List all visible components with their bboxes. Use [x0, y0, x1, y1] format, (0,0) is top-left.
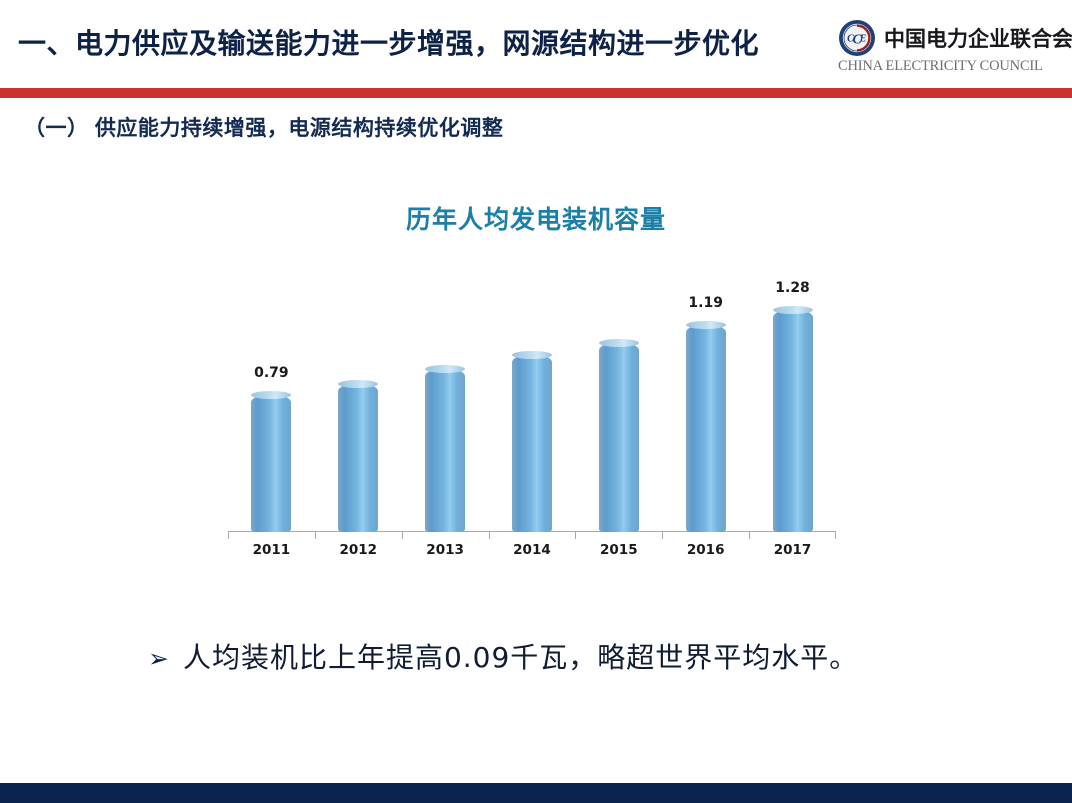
- header-red-rule: [0, 88, 1072, 98]
- bar-top-ellipse: [338, 380, 378, 388]
- slide-header: 一、电力供应及输送能力进一步增强，网源结构进一步优化 C C E 中国电力企业联…: [0, 0, 1072, 88]
- logo-name-cn: 中国电力企业联合会: [884, 23, 1072, 53]
- x-axis-tick: [228, 532, 229, 539]
- bar-2013[interactable]: [425, 369, 465, 532]
- x-axis-tick: [575, 532, 576, 539]
- bar-slot: 1.282017: [749, 280, 836, 532]
- bar-top-ellipse: [773, 306, 813, 314]
- bar-2016[interactable]: [686, 325, 726, 532]
- bar-2014[interactable]: [512, 355, 552, 532]
- bar-top-ellipse: [425, 365, 465, 373]
- bar-top-ellipse: [686, 321, 726, 329]
- cec-circular-seal-icon: C C E: [838, 19, 876, 57]
- chart-plot-area: 0.79201120122013201420151.1920161.282017: [228, 280, 836, 532]
- summary-bullet-text: 人均装机比上年提高0.09千瓦，略超世界平均水平。: [183, 636, 858, 676]
- x-axis-label-2016: 2016: [687, 542, 725, 558]
- bar-slot: 1.192016: [662, 280, 749, 532]
- organization-logo: C C E 中国电力企业联合会 CHINA ELECTRICITY COUNCI…: [838, 16, 1064, 78]
- bar-slot: 2014: [489, 280, 576, 532]
- bar-value-label: 1.19: [688, 295, 723, 311]
- bar-2015[interactable]: [599, 343, 639, 532]
- x-axis-tick: [662, 532, 663, 539]
- x-axis-tick: [749, 532, 750, 539]
- bar-2012[interactable]: [338, 384, 378, 532]
- arrow-bullet-icon: ➢: [148, 646, 169, 671]
- svg-text:C: C: [847, 34, 854, 45]
- section-subheading: （一） 供应能力持续增强，电源结构持续优化调整: [24, 112, 503, 142]
- slide-canvas: 一、电力供应及输送能力进一步增强，网源结构进一步优化 C C E 中国电力企业联…: [0, 0, 1072, 803]
- bar-2011[interactable]: [251, 395, 291, 532]
- summary-bullet: ➢ 人均装机比上年提高0.09千瓦，略超世界平均水平。: [148, 636, 858, 676]
- bar-top-ellipse: [251, 391, 291, 399]
- bar-top-ellipse: [512, 351, 552, 359]
- x-axis-label-2012: 2012: [339, 542, 377, 558]
- x-axis-label-2013: 2013: [426, 542, 464, 558]
- x-axis-label-2017: 2017: [774, 542, 812, 558]
- bar-slot: 2012: [315, 280, 402, 532]
- chart-title: 历年人均发电装机容量: [0, 200, 1072, 236]
- bar-value-label: 0.79: [254, 365, 289, 381]
- x-axis-tick: [489, 532, 490, 539]
- bar-slot: 0.792011: [228, 280, 315, 532]
- x-axis-tick: [835, 532, 836, 539]
- x-axis-label-2014: 2014: [513, 542, 551, 558]
- logo-name-en: CHINA ELECTRICITY COUNCIL: [838, 58, 1064, 75]
- x-axis-label-2011: 2011: [253, 542, 291, 558]
- page-title: 一、电力供应及输送能力进一步增强，网源结构进一步优化: [18, 22, 818, 62]
- bar-slot: 2015: [575, 280, 662, 532]
- bar-value-label: 1.28: [775, 280, 810, 296]
- bar-2017[interactable]: [773, 310, 813, 532]
- bar-slot: 2013: [402, 280, 489, 532]
- x-axis-tick: [402, 532, 403, 539]
- logo-row: C C E 中国电力企业联合会: [838, 19, 1064, 57]
- footer-bar: [0, 783, 1072, 803]
- svg-text:E: E: [859, 34, 867, 45]
- x-axis-tick: [315, 532, 316, 539]
- bar-top-ellipse: [599, 339, 639, 347]
- chart-container: 历年人均发电装机容量 0.79201120122013201420151.192…: [0, 180, 1072, 570]
- x-axis-label-2015: 2015: [600, 542, 638, 558]
